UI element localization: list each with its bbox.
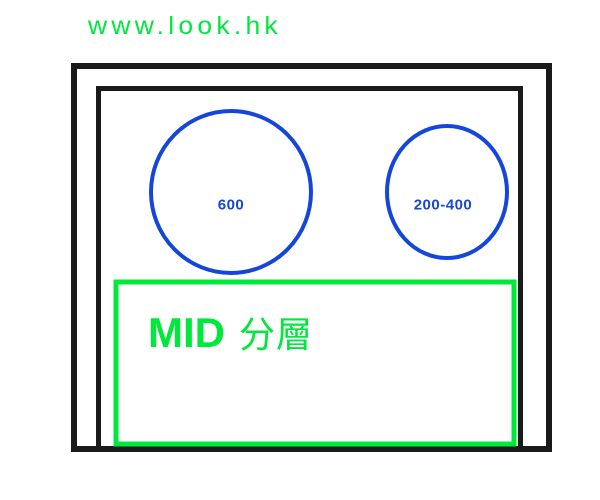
cabinet-schematic-svg xyxy=(0,0,600,500)
diagram-canvas: www.look.hk 600 200-400 MID分層 xyxy=(0,0,600,500)
mid-shelf-label-latin: MID xyxy=(148,309,225,356)
burner-small-circle xyxy=(387,126,507,258)
mid-shelf-label-cjk: 分層 xyxy=(239,315,313,356)
burner-large-circle xyxy=(151,111,311,273)
burner-small-label: 200-400 xyxy=(414,197,473,214)
inner-cabinet-frame xyxy=(99,89,521,450)
mid-shelf-band-label: MID分層 xyxy=(148,311,313,365)
burner-large-label: 600 xyxy=(218,197,245,214)
outer-cabinet-frame xyxy=(74,66,549,449)
